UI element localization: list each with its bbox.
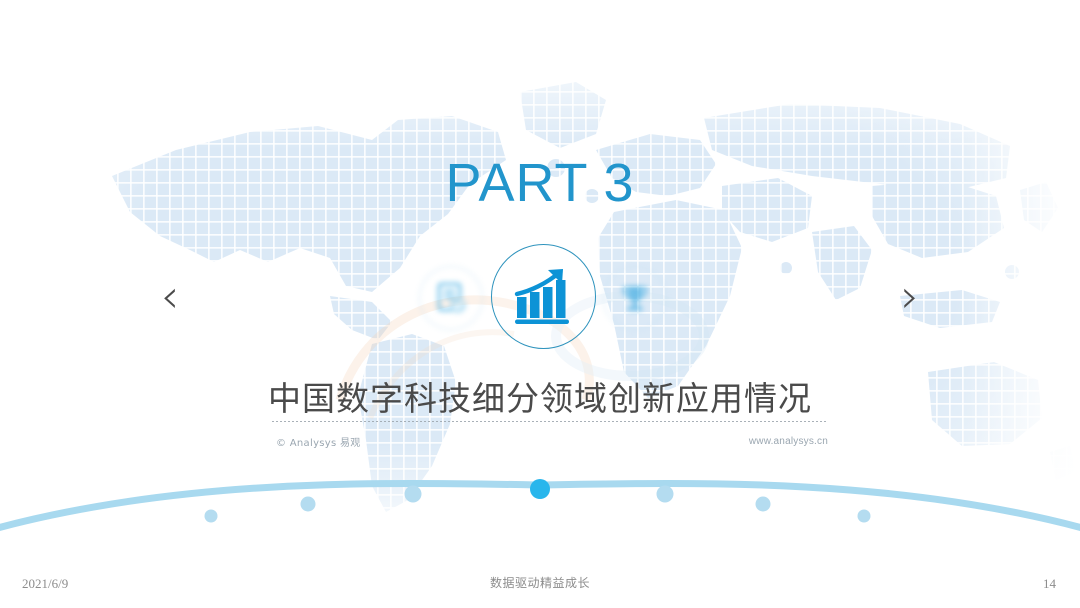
next-slide-arrow-icon[interactable]: ›: [888, 273, 932, 321]
copyright-text: © Analysys 易观: [276, 434, 361, 449]
footer-tagline: 数据驱动精益成长: [0, 574, 1080, 591]
pagination-dot[interactable]: [657, 486, 674, 503]
document-check-icon-ring: [419, 266, 483, 330]
pagination-dot[interactable]: [405, 486, 422, 503]
part-title: PART 3: [0, 152, 1080, 214]
pagination-dot[interactable]: [756, 497, 771, 512]
bar-chart-growth-glyph: [512, 267, 576, 327]
previous-slide-arrow-icon[interactable]: ‹: [148, 273, 192, 321]
pagination-dot[interactable]: [301, 497, 316, 512]
pagination-arc: [0, 460, 1080, 550]
trophy-icon-ring: [603, 266, 667, 330]
pagination-dot-active[interactable]: [530, 479, 550, 499]
divider-rule: [272, 421, 826, 422]
icon-cluster: [403, 244, 683, 352]
top-fade: [0, 0, 1080, 150]
document-check-icon: [415, 262, 487, 334]
pagination-dot[interactable]: [205, 510, 218, 523]
footer-page-number: 14: [1043, 576, 1056, 592]
trophy-icon: [599, 262, 671, 334]
pagination-dot[interactable]: [858, 510, 871, 523]
pagination-arc-svg: [0, 460, 1080, 550]
slide-root: ‹ › PART 3: [0, 0, 1080, 608]
website-url: www.analysys.cn: [749, 436, 828, 447]
bar-chart-growth-icon: [491, 244, 596, 349]
page-title: 中国数字科技细分领域创新应用情况: [0, 372, 1080, 420]
